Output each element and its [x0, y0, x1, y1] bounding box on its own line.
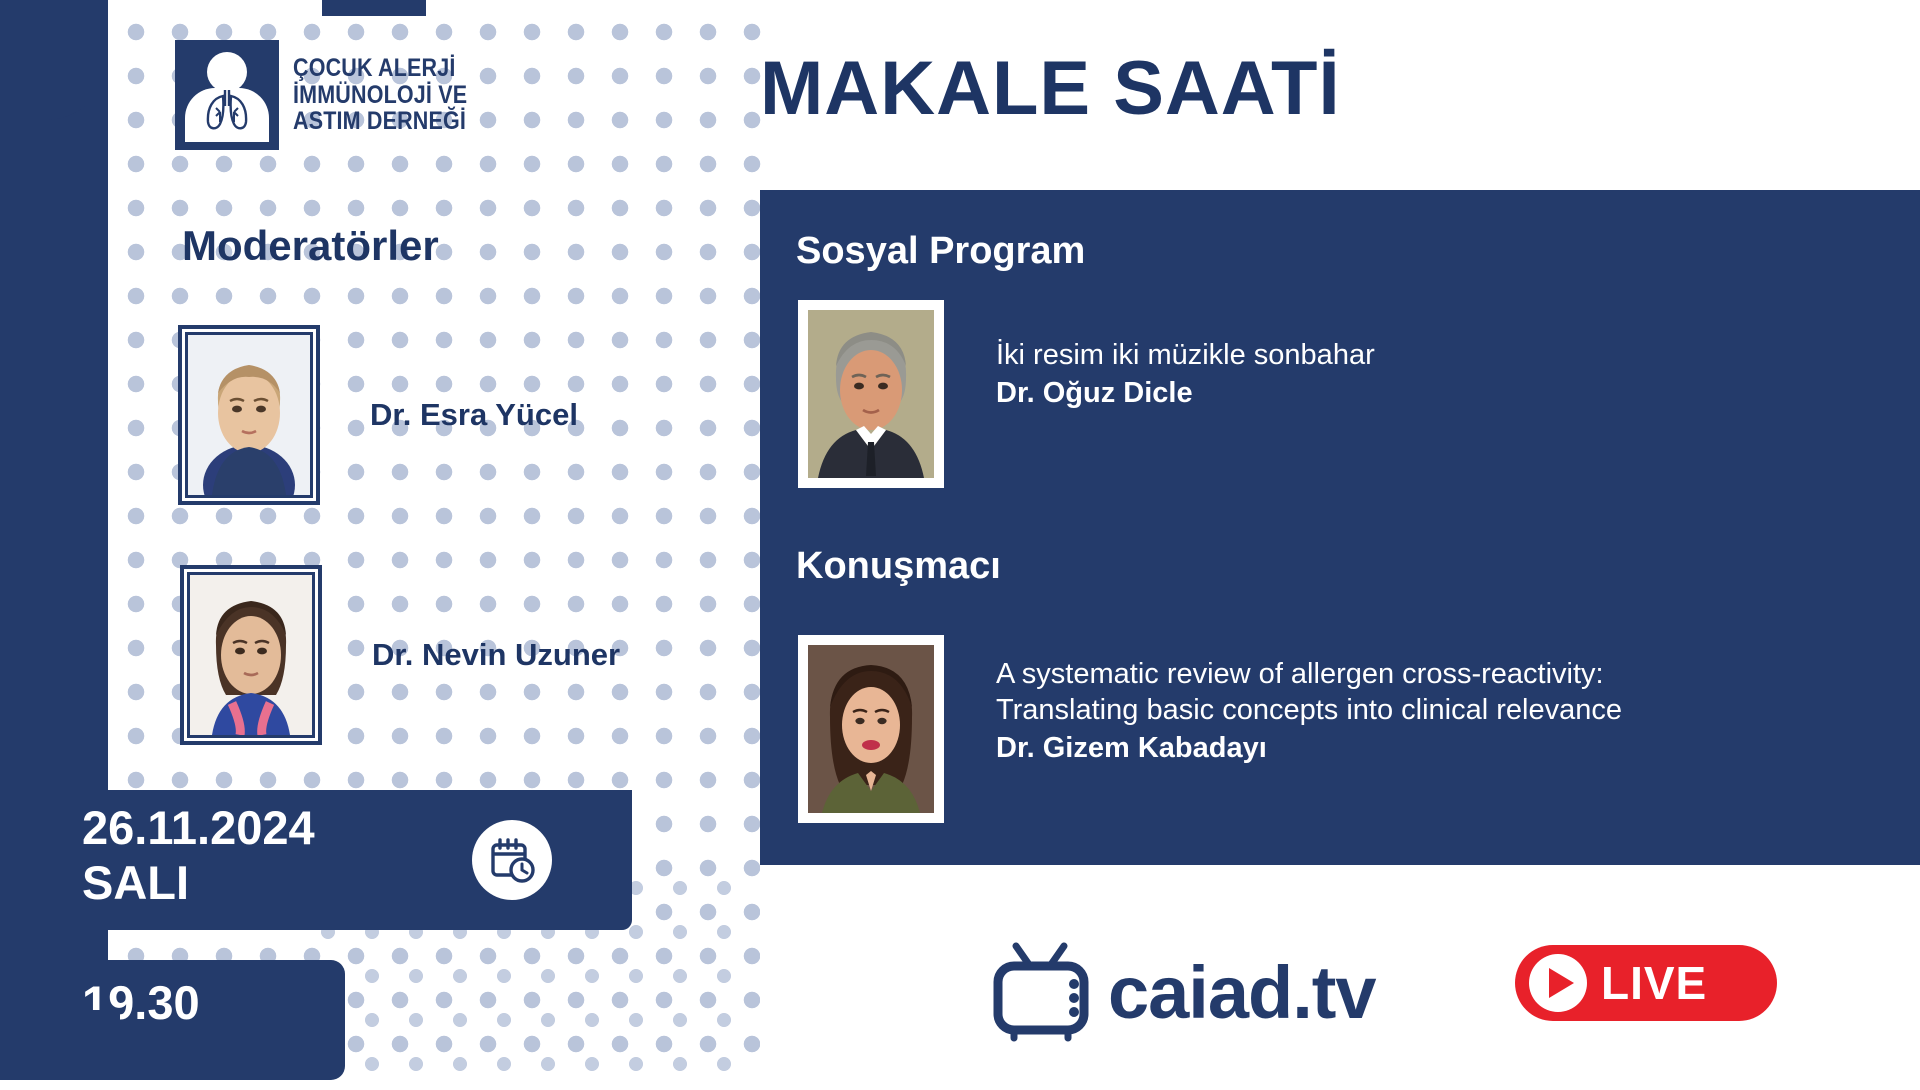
event-day-value: SALI [82, 855, 315, 910]
calendar-clock-icon [472, 820, 552, 900]
event-date-value: 26.11.2024 [82, 800, 315, 855]
play-icon [1529, 954, 1587, 1012]
dot-pattern-mask-right [1795, 860, 1920, 1090]
program-entry-person: Dr. Oğuz Dicle [996, 377, 1375, 410]
logo-line-1: ÇOCUK ALERJİ [293, 55, 467, 82]
avatar-inner-border [805, 642, 937, 816]
program-entry-text: A systematic review of allergen cross-re… [996, 635, 1622, 765]
avatar [798, 300, 944, 488]
left-bar-bottom-fill [0, 1010, 120, 1080]
section-heading-konusmaci: Konuşmacı [796, 545, 1001, 588]
program-entry-text: İki resim iki müzikle sonbahar Dr. Oğuz … [996, 300, 1375, 410]
moderator-row: Dr. Esra Yücel [178, 325, 578, 505]
program-entry: A systematic review of allergen cross-re… [798, 635, 1622, 823]
avatar-inner-border [187, 572, 315, 738]
section-heading-sosyal-program: Sosyal Program [796, 230, 1085, 273]
speaker-portrait-gizem-kabadayi [808, 645, 934, 813]
moderator-row: Dr. Nevin Uzuner [180, 565, 620, 745]
avatar-inner-border [805, 307, 937, 481]
live-label: LIVE [1601, 956, 1707, 1010]
top-navy-tab [322, 0, 426, 16]
moderator-name: Dr. Nevin Uzuner [372, 637, 620, 673]
program-entry-title: A systematic review of allergen cross-re… [996, 657, 1622, 729]
program-entry: İki resim iki müzikle sonbahar Dr. Oğuz … [798, 300, 1375, 488]
caiad-tv-label: caiad.tv [1108, 950, 1376, 1035]
logo-line-2: İMMÜNOLOJİ VE [293, 82, 467, 109]
logo-line-3: ASTIM DERNEĞİ [293, 108, 467, 135]
television-icon [990, 940, 1102, 1044]
association-logo: ÇOCUK ALERJİ İMMÜNOLOJİ VE ASTIM DERNEĞİ [175, 40, 496, 150]
moderator-name: Dr. Esra Yücel [370, 397, 578, 433]
avatar [178, 325, 320, 505]
logo-lungs-icon [199, 88, 255, 134]
association-logo-text: ÇOCUK ALERJİ İMMÜNOLOJİ VE ASTIM DERNEĞİ [293, 55, 467, 135]
moderators-heading: Moderatörler [182, 222, 439, 270]
event-date: 26.11.2024 SALI [82, 800, 315, 911]
avatar [798, 635, 944, 823]
calendar-clock-glyph [488, 836, 536, 884]
person-lungs-icon [175, 40, 279, 150]
program-entry-title: İki resim iki müzikle sonbahar [996, 338, 1375, 374]
avatar [180, 565, 322, 745]
caiad-tv-logo[interactable]: caiad.tv [990, 940, 1376, 1044]
live-badge[interactable]: LIVE [1515, 945, 1777, 1021]
poster-canvas: ÇOCUK ALERJİ İMMÜNOLOJİ VE ASTIM DERNEĞİ… [0, 0, 1920, 1080]
program-entry-person: Dr. Gizem Kabadayı [996, 732, 1622, 765]
play-triangle [1549, 968, 1574, 998]
logo-head-shape [207, 52, 247, 92]
page-title: MAKALE SAATİ [760, 45, 1341, 132]
avatar-inner-border [185, 332, 313, 498]
moderator-portrait-2 [190, 575, 312, 735]
moderator-portrait-1 [188, 335, 310, 495]
speaker-portrait-oguz-dicle [808, 310, 934, 478]
